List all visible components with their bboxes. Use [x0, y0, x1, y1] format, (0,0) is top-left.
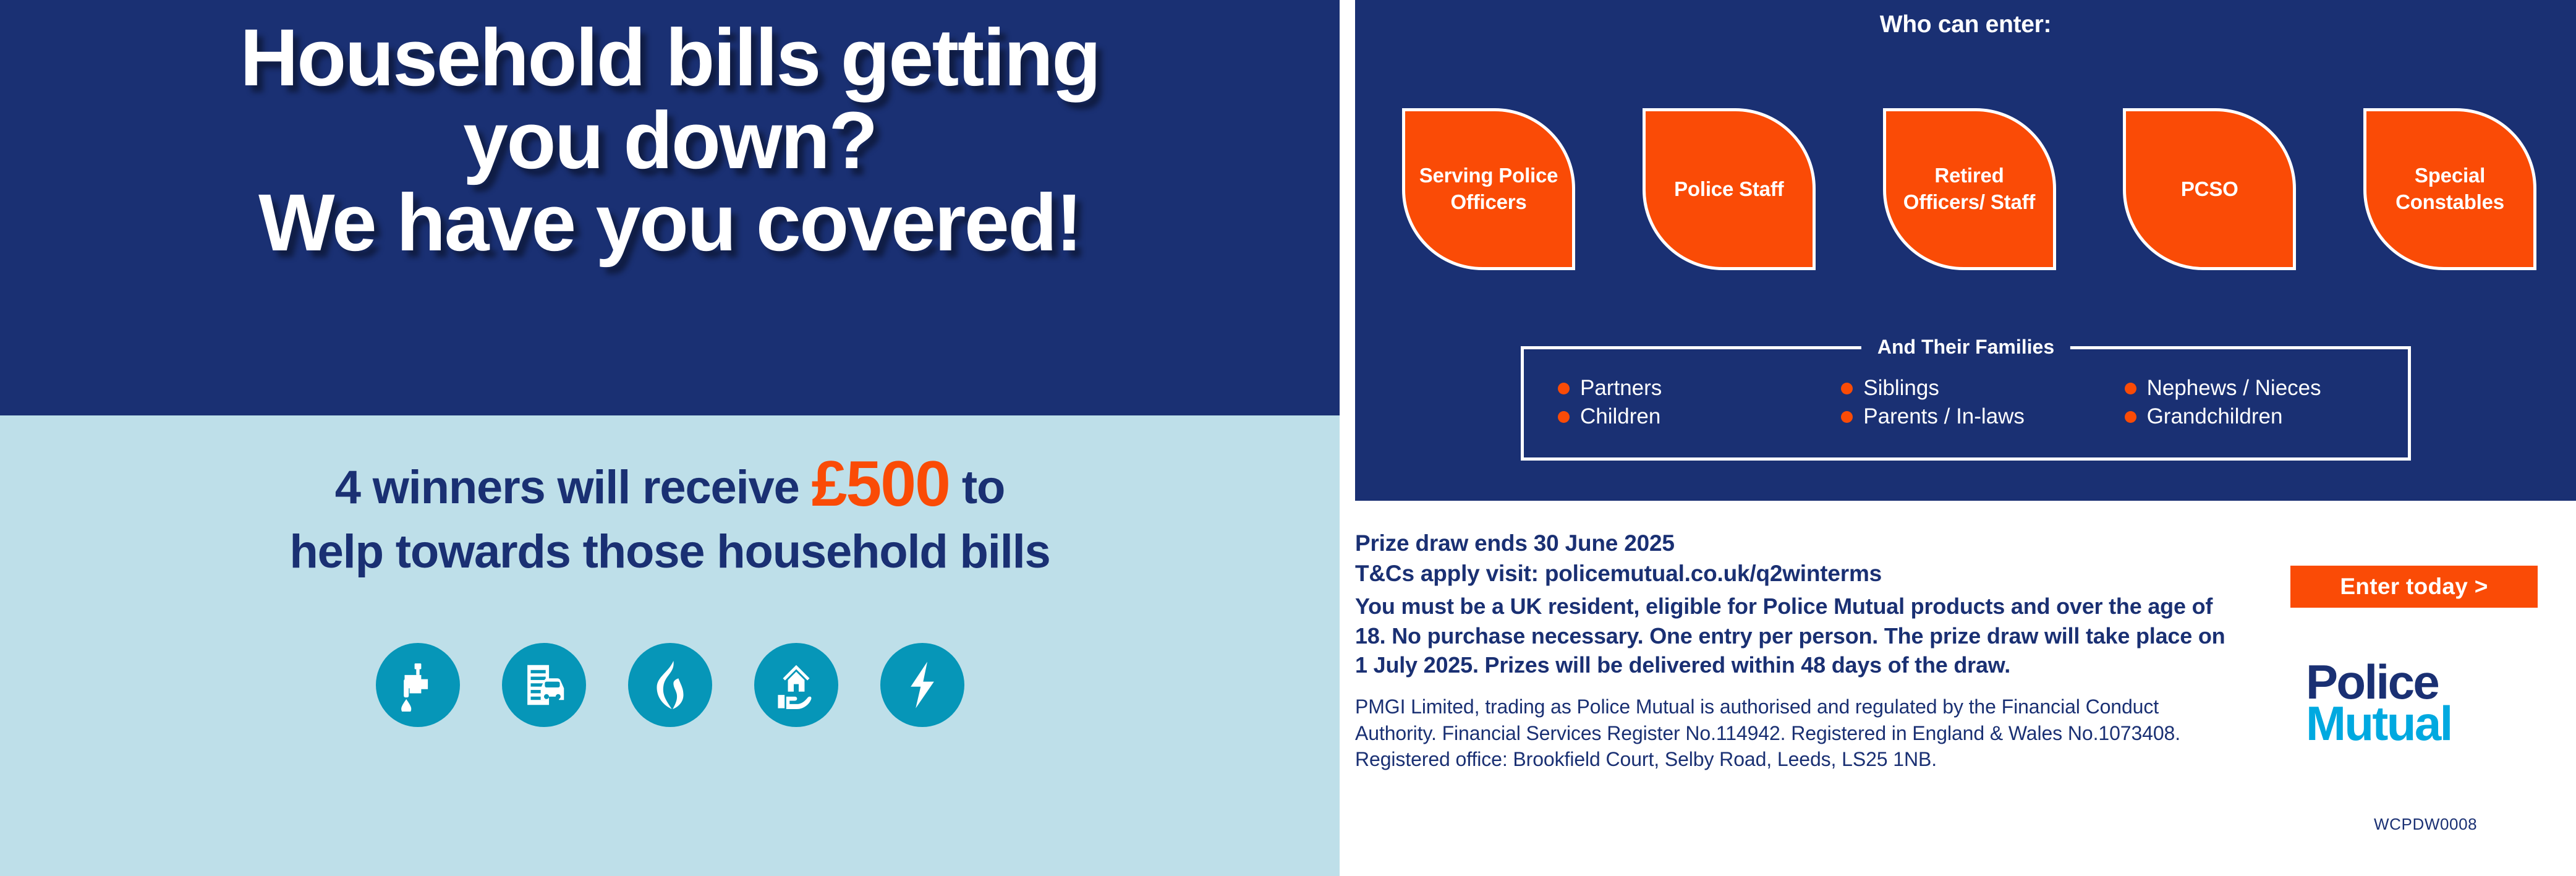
left-panel: Household bills getting you down? We hav… [0, 0, 1340, 876]
prize-statement-line-2: help towards those household bills [0, 524, 1340, 581]
families-columns: Partners Children Siblings Parents / In- [1524, 374, 2408, 431]
list-item-label: Siblings [1863, 376, 1939, 401]
prize-statement: 4 winners will receive £500 to help towa… [0, 445, 1340, 581]
electricity-bolt-icon [880, 643, 964, 727]
bullet-dot-icon [2125, 411, 2136, 423]
bullet-dot-icon [1841, 383, 1853, 394]
eligibility-panel: Who can enter: Serving Police Officers P… [1355, 0, 2576, 501]
list-item: Children [1558, 402, 1841, 431]
families-column: Siblings Parents / In-laws [1841, 374, 2124, 431]
list-item: Parents / In-laws [1841, 402, 2124, 431]
headline: Household bills getting you down? We hav… [0, 16, 1340, 264]
bullet-dot-icon [2125, 383, 2136, 394]
advert-canvas: Household bills getting you down? We hav… [0, 0, 2576, 876]
headline-line-2: you down? [0, 99, 1340, 182]
eligible-group-label: Special Constables [2366, 163, 2533, 216]
gas-flame-icon [628, 643, 712, 727]
eligible-group-badge: PCSO [2123, 108, 2296, 270]
eligible-groups: Serving Police Officers Police Staff Ret… [1402, 108, 2536, 270]
tcs-link-line[interactable]: T&Cs apply visit: policemutual.co.uk/q2w… [1355, 559, 2233, 589]
police-mutual-logo: Police Mutual [2306, 661, 2528, 744]
list-item: Grandchildren [2125, 402, 2408, 431]
list-item-label: Grandchildren [2147, 404, 2283, 429]
bullet-dot-icon [1558, 411, 1570, 423]
home-in-hand-icon [754, 643, 838, 727]
enter-today-button[interactable]: Enter today > [2290, 566, 2538, 608]
eligible-group-badge: Special Constables [2363, 108, 2536, 270]
prize-statement-line-1: 4 winners will receive £500 to [0, 445, 1340, 524]
eligible-group-label: Serving Police Officers [1405, 163, 1572, 216]
bill-type-icons [0, 643, 1340, 727]
prize-amount: £500 [812, 448, 950, 520]
list-item-label: Nephews / Nieces [2147, 376, 2321, 401]
eligible-group-badge: Serving Police Officers [1402, 108, 1575, 270]
prize-end-date: Prize draw ends 30 June 2025 [1355, 529, 2233, 559]
prize-text-before: 4 winners will receive [335, 461, 812, 514]
document-code: WCPDW0008 [2374, 815, 2477, 834]
headline-line-1: Household bills getting [0, 16, 1340, 99]
regulatory-text: PMGI Limited, trading as Police Mutual i… [1355, 694, 2233, 773]
families-column: Partners Children [1558, 374, 1841, 431]
eligible-group-badge: Retired Officers/ Staff [1883, 108, 2056, 270]
list-item-label: Parents / In-laws [1863, 404, 2025, 429]
who-can-enter-title: Who can enter: [1355, 11, 2576, 38]
water-tap-icon [376, 643, 460, 727]
bullet-dot-icon [1841, 411, 1853, 423]
logo-line-mutual: Mutual [2306, 703, 2528, 744]
terms-block: Prize draw ends 30 June 2025 T&Cs apply … [1355, 529, 2233, 773]
prize-text-after: to [950, 461, 1005, 514]
list-item: Partners [1558, 374, 1841, 402]
eligible-group-badge: Police Staff [1643, 108, 1816, 270]
list-item-label: Partners [1580, 376, 1662, 401]
headline-line-3: We have you covered! [0, 181, 1340, 264]
eligible-group-label: Retired Officers/ Staff [1886, 163, 2053, 216]
families-legend: And Their Families [1861, 336, 2070, 359]
list-item: Siblings [1841, 374, 2124, 402]
families-column: Nephews / Nieces Grandchildren [2125, 374, 2408, 431]
car-documents-icon [502, 643, 586, 727]
families-box: And Their Families Partners Children [1521, 346, 2411, 461]
eligibility-text: You must be a UK resident, eligible for … [1355, 592, 2233, 681]
eligible-group-label: PCSO [2172, 176, 2247, 203]
bullet-dot-icon [1558, 383, 1570, 394]
list-item: Nephews / Nieces [2125, 374, 2408, 402]
list-item-label: Children [1580, 404, 1660, 429]
eligible-group-label: Police Staff [1665, 176, 1792, 203]
